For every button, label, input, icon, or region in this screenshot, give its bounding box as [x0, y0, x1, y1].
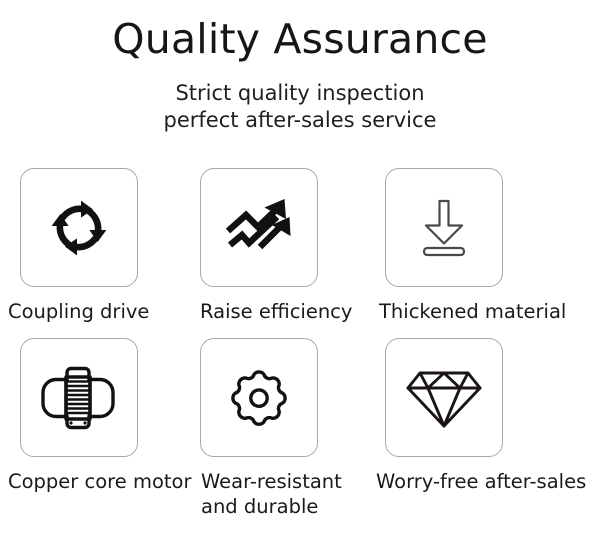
feature-item-thickened-material: Thickened material	[378, 168, 600, 324]
circular-arrows-icon	[43, 192, 115, 264]
diamond-icon	[405, 363, 483, 433]
feature-label: Wear-resistant and durable	[201, 469, 342, 519]
trending-up-arrows-icon	[222, 193, 296, 263]
subtitle-line-2: perfect after-sales service	[0, 107, 600, 134]
page-subtitle: Strict quality inspection perfect after-…	[0, 80, 600, 134]
feature-grid: Coupling drive	[0, 168, 600, 519]
feature-icon-card	[200, 168, 318, 287]
feature-item-copper-core-motor: Copper core motor	[0, 338, 192, 519]
feature-icon-card	[20, 338, 138, 457]
feature-icon-card	[385, 168, 503, 287]
page-title: Quality Assurance	[0, 14, 600, 64]
feature-label: Raise efficiency	[200, 299, 352, 324]
feature-label: Coupling drive	[8, 299, 149, 324]
feature-item-wear-resistant: Wear-resistant and durable	[192, 338, 378, 519]
feature-icon-card	[200, 338, 318, 457]
feature-row: Copper core motor Wear-resistant and dur…	[0, 338, 600, 519]
feature-label: Thickened material	[379, 299, 566, 324]
feature-label: Worry-free after-sales	[376, 469, 586, 494]
feature-icon-card	[20, 168, 138, 287]
page-header: Quality Assurance Strict quality inspect…	[0, 0, 600, 134]
feature-item-worry-free: Worry-free after-sales	[378, 338, 600, 519]
feature-item-coupling-drive: Coupling drive	[0, 168, 192, 324]
feature-item-raise-efficiency: Raise efficiency	[192, 168, 378, 324]
gear-icon	[223, 362, 295, 434]
electric-motor-icon	[39, 360, 119, 436]
feature-icon-card	[385, 338, 503, 457]
subtitle-line-1: Strict quality inspection	[0, 80, 600, 107]
feature-row: Coupling drive	[0, 168, 600, 324]
feature-label: Copper core motor	[8, 469, 191, 494]
download-thickness-arrow-icon	[409, 193, 479, 263]
